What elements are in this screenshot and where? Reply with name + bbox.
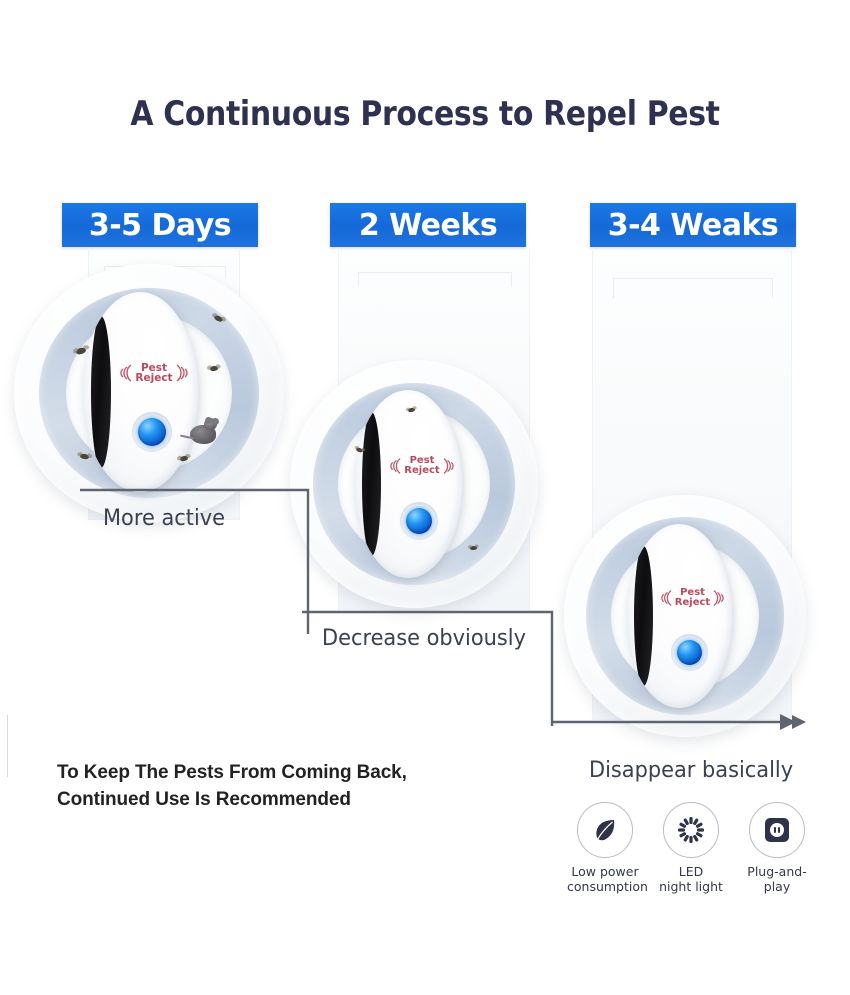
feature-circle-low-power (577, 802, 633, 858)
stage-banner-2: 2 Weeks (330, 203, 526, 247)
soundwave-left-icon-2 (388, 455, 403, 477)
device-stage-2: Pest Reject (290, 360, 538, 608)
feature-low-power: Low power consumption (567, 802, 643, 894)
feature-label-plug: Plug-and-play (739, 864, 815, 894)
device-led-button-2[interactable] (406, 508, 432, 534)
pest-reject-logo-2: Pest Reject (387, 452, 457, 480)
page-title: A Continuous Process to Repel Pest (51, 94, 799, 134)
soundwave-right-icon-1 (174, 361, 190, 385)
footer-note-line2: Continued Use Is Recommended (57, 787, 407, 814)
feature-plug-and-play: Plug-and-play (739, 802, 815, 894)
footer-note-line1: To Keep The Pests From Coming Back, (57, 760, 407, 787)
device-body-3: Pest Reject (626, 524, 732, 708)
device-led-button-3[interactable] (677, 640, 702, 665)
device-slot-3 (634, 546, 653, 686)
device-slot-1 (91, 316, 111, 468)
feature-circle-plug (749, 802, 805, 858)
feature-label-led: LED night light (653, 864, 729, 894)
outlet-icon (763, 816, 791, 844)
device-body-2: Pest Reject (354, 390, 462, 578)
soundwave-right-icon-3 (711, 587, 726, 609)
pest-reject-logo-1: Pest Reject (118, 358, 190, 388)
edge-line-artifact (7, 715, 8, 777)
pest-reject-logo-text-3: Pest Reject (675, 588, 710, 608)
stage-banner-3-label: 3-4 Weaks (608, 208, 779, 243)
stage-caption-2: Decrease obviously (322, 626, 526, 651)
stage-caption-1: More active (103, 506, 225, 531)
pest-reject-logo-text-2: Pest Reject (404, 456, 439, 476)
feature-badges: Low power consumption (567, 802, 817, 894)
feature-circle-led (663, 802, 719, 858)
device-led-button-1[interactable] (138, 418, 166, 446)
pest-mouse (190, 420, 230, 446)
stage-banner-1-label: 3-5 Days (89, 208, 231, 243)
stage-banner-3: 3-4 Weaks (590, 203, 796, 247)
logo-line2-3: Reject (675, 598, 710, 608)
device-stage-1: Pest Reject (14, 264, 284, 522)
logo-line2-1: Reject (135, 373, 172, 384)
footer-note: To Keep The Pests From Coming Back, Cont… (57, 760, 407, 814)
pest-reject-logo-text-1: Pest Reject (135, 363, 172, 384)
soundwave-left-icon-3 (659, 587, 674, 609)
soundwave-right-icon-2 (441, 455, 456, 477)
soundwave-left-icon-1 (118, 361, 134, 385)
feature-label-low-power: Low power consumption (567, 864, 643, 894)
device-stage-3: Pest Reject (564, 495, 806, 737)
stage-banner-2-label: 2 Weeks (359, 208, 497, 243)
mouse-ear (212, 418, 219, 425)
final-arrow (552, 710, 812, 734)
stage-caption-3: Disappear basically (589, 758, 793, 783)
leaf-icon (591, 816, 619, 844)
logo-line2-2: Reject (404, 466, 439, 476)
device-slot-2 (362, 412, 381, 556)
device-body-1: Pest Reject (82, 292, 198, 492)
infographic-canvas: A Continuous Process to Repel Pest 3-5 D… (0, 0, 850, 995)
feature-led-night-light: LED night light (653, 802, 729, 894)
sunburst-icon (676, 815, 706, 845)
pest-reject-logo-3: Pest Reject (658, 584, 727, 612)
stage-banner-1: 3-5 Days (62, 203, 258, 247)
mouse-ear (205, 417, 212, 424)
